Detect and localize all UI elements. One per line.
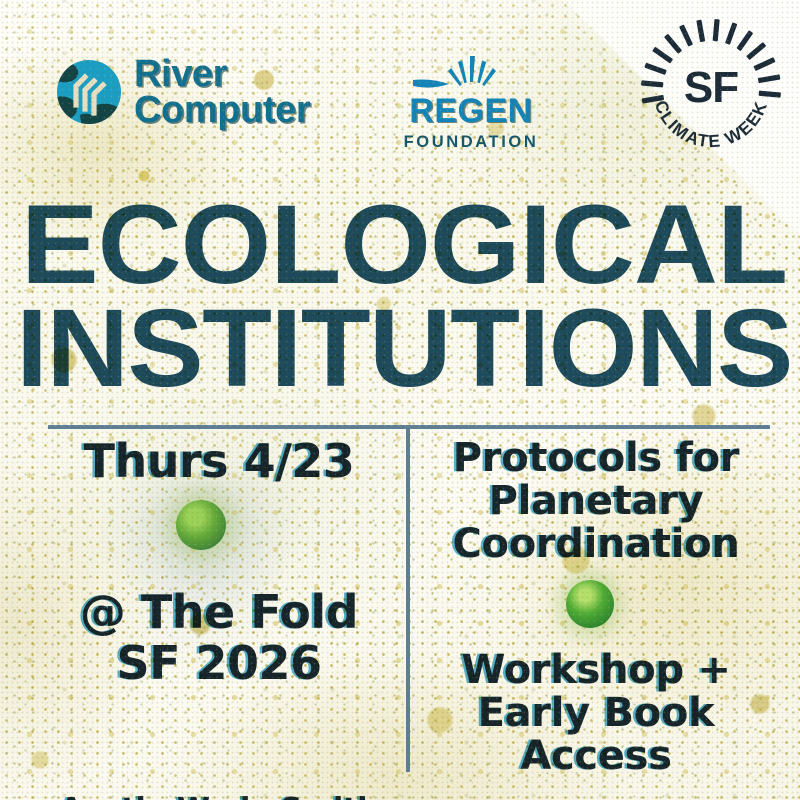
title-line-2: INSTITUTIONS <box>15 297 793 400</box>
talk-title-line-2: Planetary <box>422 481 770 522</box>
offer-line-3: Access <box>422 736 770 777</box>
poster-title: ECOLOGICAL INSTITUTIONS <box>30 192 778 401</box>
logo-row: River Computer REGEN FOUNDATIO <box>56 56 590 148</box>
sf-climate-week-badge: CLIMATE WEEK SF <box>638 16 784 162</box>
regen-wordmark: REGEN <box>386 94 556 128</box>
offer-line-2: Early Book <box>422 693 770 734</box>
river-computer-globe-icon <box>56 59 122 125</box>
offer-line-1: Workshop + <box>422 650 770 691</box>
title-line-1: ECOLOGICAL <box>15 192 793 297</box>
talk-title-line-1: Protocols for <box>422 438 770 479</box>
event-details-column: Thurs 4/23 @ The Fold SF 2026 Austin Wad… <box>48 438 390 800</box>
regen-subtitle: FOUNDATION <box>386 133 556 152</box>
badge-monogram: SF <box>684 63 738 112</box>
regen-sunburst-icon <box>386 54 556 94</box>
talk-details-column: Protocols for Planetary Coordination Wor… <box>422 438 770 777</box>
venue-line-1: @ The Fold <box>48 589 390 636</box>
talk-title: Protocols for Planetary Coordination <box>422 438 770 564</box>
venue-line-2: SF 2026 <box>48 640 390 687</box>
river-logo-line-2: Computer <box>134 92 310 128</box>
river-computer-wordmark: River Computer <box>134 56 310 129</box>
regen-foundation-logo[interactable]: REGEN FOUNDATION <box>386 54 556 152</box>
talk-title-line-3: Coordination <box>422 524 770 565</box>
event-venue: @ The Fold SF 2026 <box>48 589 390 687</box>
speaker-name: Austin Wade Smith <box>48 795 390 800</box>
river-computer-logo[interactable]: River Computer <box>56 56 310 129</box>
event-poster: CLIMATE WEEK SF <box>0 0 800 800</box>
vertical-divider <box>406 428 410 772</box>
river-logo-line-1: River <box>134 56 310 92</box>
offer-details: Workshop + Early Book Access <box>422 650 770 776</box>
event-date: Thurs 4/23 <box>48 438 390 485</box>
